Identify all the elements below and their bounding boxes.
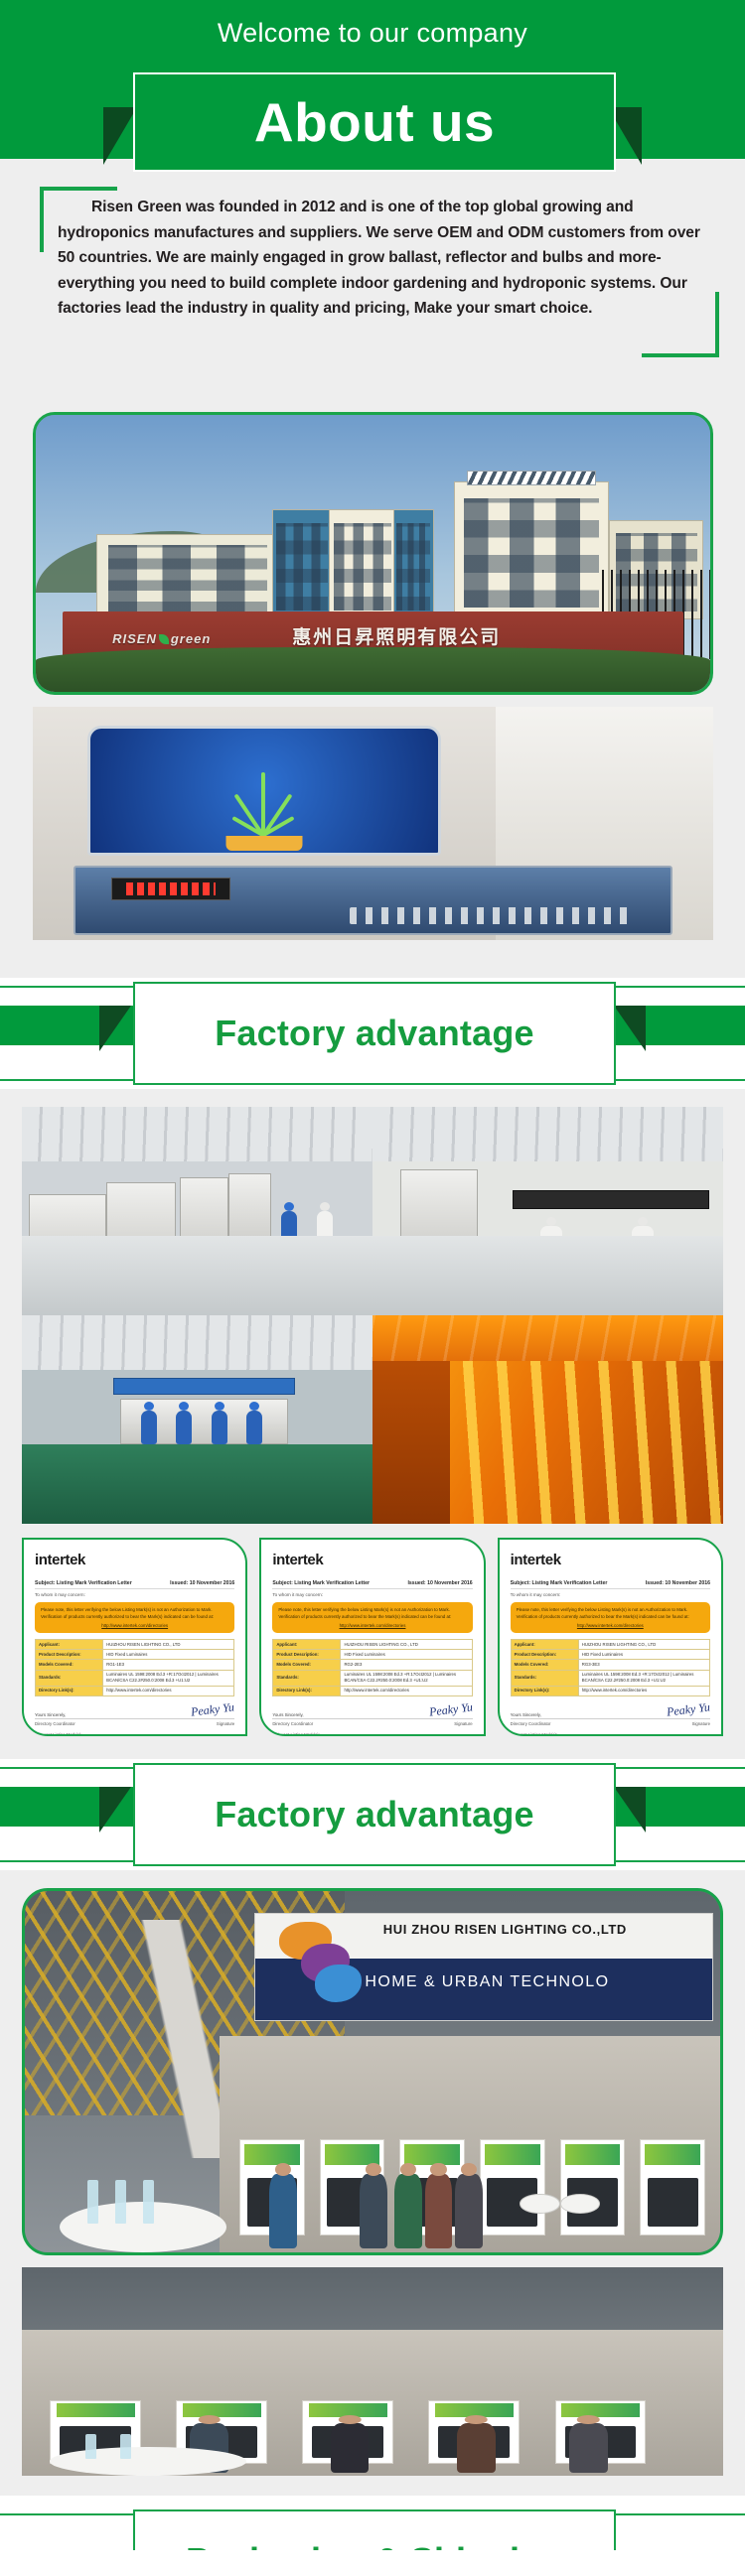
logo-blob-icon bbox=[269, 1920, 370, 2009]
table-row: Applicant:HUIZHOU RISEN LIGHTING CO., LT… bbox=[36, 1640, 234, 1650]
certificate-coordinator-row: Directory Coordinator Signature bbox=[35, 1721, 234, 1726]
table-row: Directory Link(s):http://www.intertek.co… bbox=[36, 1686, 234, 1695]
windows bbox=[276, 523, 328, 610]
banner-plaque: Factory advantage bbox=[133, 982, 616, 1085]
certificate-subject: Subject: Listing Mark Verification Lette… bbox=[511, 1580, 608, 1586]
factory-advantage-banner-2: Factory advantage bbox=[0, 1759, 745, 1870]
notice-line-2: Verification of products currently autho… bbox=[41, 1614, 214, 1619]
row-value: HID Fixed Luminaires bbox=[578, 1650, 709, 1660]
table-row: Product Description:HID Fixed Luminaires bbox=[511, 1650, 709, 1660]
listing-marks-label: Relevant Listing Mark(s): bbox=[272, 1732, 472, 1736]
about-body: Risen Green was founded in 2012 and is o… bbox=[0, 187, 745, 322]
ribbon-fold-left-icon bbox=[99, 1787, 131, 1832]
photo-factory-exterior: RISENgreen 惠州日昇照明有限公司 HUIZHOU RISEN LIGH… bbox=[33, 412, 713, 695]
row-value: RG3-3E3 bbox=[578, 1660, 709, 1670]
certificate-subject: Subject: Listing Mark Verification Lette… bbox=[35, 1580, 132, 1586]
certificate-issued-date: Issued: 10 November 2016 bbox=[170, 1580, 234, 1586]
table-row: Product Description:HID Fixed Luminaires bbox=[36, 1650, 234, 1660]
water-bottle bbox=[143, 2180, 154, 2224]
reflector-part bbox=[513, 1190, 709, 1209]
product-detail-page: Welcome to our company About us Risen Gr… bbox=[0, 0, 745, 2576]
photo-smt-line bbox=[22, 1107, 372, 1315]
row-key: Directory Link(s): bbox=[36, 1686, 103, 1695]
row-key: Directory Link(s): bbox=[511, 1686, 578, 1695]
row-key: Product Description: bbox=[36, 1650, 103, 1660]
worker bbox=[141, 1411, 157, 1444]
lamp-product bbox=[560, 2194, 600, 2214]
table-row: Directory Link(s):http://www.intertek.co… bbox=[273, 1686, 472, 1695]
booth-tagline: HOME & URBAN TECHNOLO bbox=[365, 1973, 609, 1991]
growth-test-chamber bbox=[87, 726, 441, 857]
factory-advantage-section-1: intertek Subject: Listing Mark Verificat… bbox=[0, 1089, 745, 1759]
water-bottle bbox=[87, 2180, 98, 2224]
building-tall bbox=[454, 481, 609, 620]
certificate-subject-row: Subject: Listing Mark Verification Lette… bbox=[35, 1580, 234, 1589]
risen-green-logo: RISENgreen bbox=[112, 631, 211, 646]
building-blue-left bbox=[272, 509, 333, 620]
certificate-subject: Subject: Listing Mark Verification Lette… bbox=[272, 1580, 370, 1586]
windows bbox=[396, 523, 430, 610]
row-value: HUIZHOU RISEN LIGHTING CO., LTD bbox=[103, 1640, 234, 1650]
row-key: Standards: bbox=[36, 1670, 103, 1686]
certificate-notice: Please note, this letter verifying the b… bbox=[511, 1602, 710, 1633]
ceiling bbox=[22, 1315, 372, 1370]
banner-plaque: Packaging & Shipping bbox=[133, 2509, 616, 2550]
table-row: Standards:Luminaires UL 1598:2008 Ed.3 +… bbox=[273, 1670, 472, 1686]
row-value: http://www.intertek.com/directories bbox=[341, 1686, 472, 1695]
table-row: Applicant:HUIZHOU RISEN LIGHTING CO., LT… bbox=[273, 1640, 472, 1650]
table-row: Models Covered:RG2-2E3 bbox=[273, 1660, 472, 1670]
notice-line-2: Verification of products currently autho… bbox=[517, 1614, 689, 1619]
certificate-notice: Please note, this letter verifying the b… bbox=[272, 1602, 472, 1633]
row-key: Product Description: bbox=[273, 1650, 341, 1660]
listing-marks-label: Relevant Listing Mark(s): bbox=[511, 1732, 710, 1736]
windows bbox=[334, 523, 391, 610]
table-row: Models Covered:RG1-1E3 bbox=[36, 1660, 234, 1670]
about-paragraph: Risen Green was founded in 2012 and is o… bbox=[40, 187, 719, 322]
row-value: HUIZHOU RISEN LIGHTING CO., LTD bbox=[578, 1640, 709, 1650]
certificate-issued-date: Issued: 10 November 2016 bbox=[646, 1580, 710, 1586]
photo-assembly-line bbox=[22, 1315, 372, 1524]
row-value: Luminaires UL 1598:2008 Ed.3 +R:17Oct201… bbox=[103, 1670, 234, 1686]
signature-label: Signature bbox=[217, 1721, 234, 1726]
certificate-detail-table: Applicant:HUIZHOU RISEN LIGHTING CO., LT… bbox=[511, 1639, 710, 1696]
table-row: Directory Link(s):http://www.intertek.co… bbox=[511, 1686, 709, 1695]
windows bbox=[464, 498, 599, 608]
row-value: Luminaires UL 1598:2008 Ed.3 +R:17Oct201… bbox=[578, 1670, 709, 1686]
logo-risen-text: RISEN bbox=[112, 631, 157, 646]
row-key: Models Covered: bbox=[36, 1660, 103, 1670]
about-us-plaque: About us bbox=[133, 72, 616, 172]
factory-advantage-banner-1: Factory advantage bbox=[0, 978, 745, 1089]
certificate-salutation: To whom it may concern: bbox=[511, 1592, 710, 1597]
table-row: Applicant:HUIZHOU RISEN LIGHTING CO., LT… bbox=[511, 1640, 709, 1650]
booth-company-name: HUI ZHOU RISEN LIGHTING CO.,LTD bbox=[383, 1922, 627, 1937]
intertek-logo: intertek bbox=[511, 1552, 710, 1568]
certificate-detail-table: Applicant:HUIZHOU RISEN LIGHTING CO., LT… bbox=[35, 1639, 234, 1696]
certificate-coordinator-row: Directory Coordinator Signature bbox=[272, 1721, 472, 1726]
sign-chinese-name: 惠州日昇照明有限公司 bbox=[292, 622, 501, 649]
water-bottle bbox=[85, 2434, 96, 2459]
building-long bbox=[96, 534, 278, 619]
signed-by-label: Yours Sincerely, bbox=[272, 1712, 303, 1717]
visitor bbox=[455, 2174, 483, 2247]
certificate-signature-row: Yours Sincerely, Peaky Yu bbox=[272, 1702, 472, 1719]
row-key: Models Covered: bbox=[273, 1660, 341, 1670]
instrument-display bbox=[111, 878, 230, 900]
notice-link[interactable]: http://www.intertek.com/directories bbox=[517, 1622, 704, 1629]
coordinator-label: Directory Coordinator bbox=[35, 1721, 75, 1726]
certificate-notice: Please note, this letter verifying the b… bbox=[35, 1602, 234, 1633]
welcome-heading: Welcome to our company bbox=[0, 16, 745, 50]
lab-scene bbox=[33, 707, 713, 940]
water-bottle bbox=[115, 2180, 126, 2224]
plant-icon bbox=[188, 755, 341, 835]
certificate-issued-date: Issued: 10 November 2016 bbox=[407, 1580, 472, 1586]
signature-label: Signature bbox=[692, 1721, 710, 1726]
certificate-subject-row: Subject: Listing Mark Verification Lette… bbox=[272, 1580, 472, 1589]
row-value: http://www.intertek.com/directories bbox=[578, 1686, 709, 1695]
banner-plaque: Factory advantage bbox=[133, 1763, 616, 1866]
factory-advantage-section-2: HUI ZHOU RISEN LIGHTING CO.,LTD HOME & U… bbox=[0, 1870, 745, 2496]
row-key: Standards: bbox=[273, 1670, 341, 1686]
certificate-salutation: To whom it may concern: bbox=[272, 1592, 472, 1597]
row-key: Models Covered: bbox=[511, 1660, 578, 1670]
factory-advantage-title: Factory advantage bbox=[215, 1795, 534, 1834]
floor bbox=[372, 1236, 723, 1315]
ribbon-fold-right-icon bbox=[614, 1006, 646, 1051]
product-poster bbox=[640, 2139, 705, 2235]
photo-inspection bbox=[372, 1107, 723, 1315]
row-value: HID Fixed Luminaires bbox=[103, 1650, 234, 1660]
row-value: Luminaires UL 1598:2008 Ed.3 +R:17Oct201… bbox=[341, 1670, 472, 1686]
row-key: Applicant: bbox=[273, 1640, 341, 1650]
notice-link[interactable]: http://www.intertek.com/directories bbox=[278, 1622, 466, 1629]
visitor bbox=[569, 2423, 608, 2473]
visitor bbox=[457, 2423, 496, 2473]
certificate-salutation: To whom it may concern: bbox=[35, 1592, 234, 1597]
leaf-icon bbox=[159, 634, 169, 644]
notice-line-1: Please note, this letter verifying the b… bbox=[278, 1607, 450, 1612]
visitor bbox=[425, 2174, 453, 2247]
certificate-signature-row: Yours Sincerely, Peaky Yu bbox=[35, 1702, 234, 1719]
notice-line-1: Please note, this letter verifying the b… bbox=[517, 1607, 688, 1612]
notice-link[interactable]: http://www.intertek.com/directories bbox=[41, 1622, 228, 1629]
line-canopy bbox=[113, 1378, 296, 1395]
roof-louvre bbox=[467, 471, 595, 485]
certificate-signature-row: Yours Sincerely, Peaky Yu bbox=[511, 1702, 710, 1719]
worker bbox=[246, 1411, 262, 1444]
about-photo-row bbox=[33, 707, 713, 940]
photo-test-lab bbox=[389, 707, 713, 940]
row-value: HID Fixed Luminaires bbox=[341, 1650, 472, 1660]
certificate-row: intertek Subject: Listing Mark Verificat… bbox=[22, 1538, 723, 1736]
intertek-logo: intertek bbox=[35, 1552, 234, 1568]
about-us-section: Welcome to our company About us Risen Gr… bbox=[0, 0, 745, 978]
building-blue-right bbox=[393, 509, 434, 620]
table-row: Standards:Luminaires UL 1598:2008 Ed.3 +… bbox=[36, 1670, 234, 1686]
coordinator-label: Directory Coordinator bbox=[272, 1721, 313, 1726]
booth-right-scene bbox=[22, 2267, 723, 2476]
building-mid bbox=[329, 509, 396, 620]
row-key: Applicant: bbox=[36, 1640, 103, 1650]
worker bbox=[176, 1411, 192, 1444]
signed-by-label: Yours Sincerely, bbox=[35, 1712, 66, 1717]
factory-advantage-title: Factory advantage bbox=[215, 1014, 534, 1053]
about-us-title: About us bbox=[254, 93, 495, 151]
certificate-subject-row: Subject: Listing Mark Verification Lette… bbox=[511, 1580, 710, 1589]
signed-by-label: Yours Sincerely, bbox=[511, 1712, 541, 1717]
certificate-card[interactable]: intertek Subject: Listing Mark Verificat… bbox=[22, 1538, 247, 1736]
row-value: HUIZHOU RISEN LIGHTING CO., LTD bbox=[341, 1640, 472, 1650]
certificate-detail-table: Applicant:HUIZHOU RISEN LIGHTING CO., LT… bbox=[272, 1639, 472, 1696]
row-key: Applicant: bbox=[511, 1640, 578, 1650]
row-key: Standards: bbox=[511, 1670, 578, 1686]
booth-scene: HUI ZHOU RISEN LIGHTING CO.,LTD HOME & U… bbox=[25, 1891, 720, 2252]
production-photo-grid bbox=[22, 1107, 723, 1524]
product-poster bbox=[560, 2139, 626, 2235]
lamp-product bbox=[520, 2194, 559, 2214]
burnin-ceiling bbox=[372, 1315, 723, 1361]
product-poster bbox=[480, 2139, 545, 2235]
ribbon-fold-right-icon bbox=[614, 1787, 646, 1832]
visitor bbox=[331, 2423, 370, 2473]
table-row: Standards:Luminaires UL 1598:2008 Ed.3 +… bbox=[511, 1670, 709, 1686]
ribbon-fold-left-icon bbox=[99, 1006, 131, 1051]
coordinator-label: Directory Coordinator bbox=[511, 1721, 551, 1726]
photo-exhibition-booth: HUI ZHOU RISEN LIGHTING CO.,LTD HOME & U… bbox=[22, 1888, 723, 2255]
photo-burnin-room bbox=[372, 1315, 723, 1524]
handwritten-signature: Peaky Yu bbox=[666, 1699, 710, 1719]
row-value: http://www.intertek.com/directories bbox=[103, 1686, 234, 1695]
table-row: Models Covered:RG3-3E3 bbox=[511, 1660, 709, 1670]
handwritten-signature: Peaky Yu bbox=[191, 1699, 235, 1719]
ribbon-tail-left-icon bbox=[103, 107, 137, 165]
reception-table bbox=[50, 2447, 246, 2476]
floor bbox=[22, 1444, 372, 1524]
windows bbox=[108, 545, 267, 612]
row-value: RG1-1E3 bbox=[103, 1660, 234, 1670]
floor bbox=[22, 1236, 372, 1315]
lab-instrument bbox=[74, 866, 672, 936]
certificate-card[interactable]: intertek Subject: Listing Mark Verificat… bbox=[259, 1538, 485, 1736]
ceiling bbox=[372, 1107, 723, 1161]
notice-line-2: Verification of products currently autho… bbox=[278, 1614, 451, 1619]
instrument-knobs bbox=[350, 907, 635, 924]
listing-marks-label: Relevant Listing Mark(s): bbox=[35, 1732, 234, 1736]
handwritten-signature: Peaky Yu bbox=[428, 1699, 473, 1719]
notice-line-1: Please note, this letter verifying the b… bbox=[41, 1607, 213, 1612]
row-value: RG2-2E3 bbox=[341, 1660, 472, 1670]
booth-header-sign: HUI ZHOU RISEN LIGHTING CO.,LTD HOME & U… bbox=[254, 1913, 713, 2021]
booth-back-wall bbox=[220, 2036, 720, 2252]
ceiling bbox=[22, 1107, 372, 1161]
signature-label: Signature bbox=[454, 1721, 472, 1726]
logo-green-text: green bbox=[171, 631, 211, 646]
row-key: Product Description: bbox=[511, 1650, 578, 1660]
certificate-card[interactable]: intertek Subject: Listing Mark Verificat… bbox=[498, 1538, 723, 1736]
visitor bbox=[360, 2174, 387, 2247]
packaging-shipping-banner: Packaging & Shipping bbox=[0, 2496, 745, 2550]
row-key: Directory Link(s): bbox=[273, 1686, 341, 1695]
factory-exterior-scene: RISENgreen 惠州日昇照明有限公司 HUIZHOU RISEN LIGH… bbox=[36, 415, 710, 692]
intertek-logo: intertek bbox=[272, 1552, 472, 1568]
certificate-coordinator-row: Directory Coordinator Signature bbox=[511, 1721, 710, 1726]
hedge bbox=[36, 647, 710, 692]
visitor bbox=[394, 2174, 422, 2247]
worker bbox=[212, 1411, 227, 1444]
water-bottle bbox=[120, 2434, 131, 2459]
visitor bbox=[269, 2174, 297, 2247]
plant-pot bbox=[225, 836, 302, 851]
exhibition-photo-row bbox=[22, 2267, 723, 2476]
packaging-shipping-title: Packaging & Shipping bbox=[186, 2540, 563, 2550]
table-row: Product Description:HID Fixed Luminaires bbox=[273, 1650, 472, 1660]
